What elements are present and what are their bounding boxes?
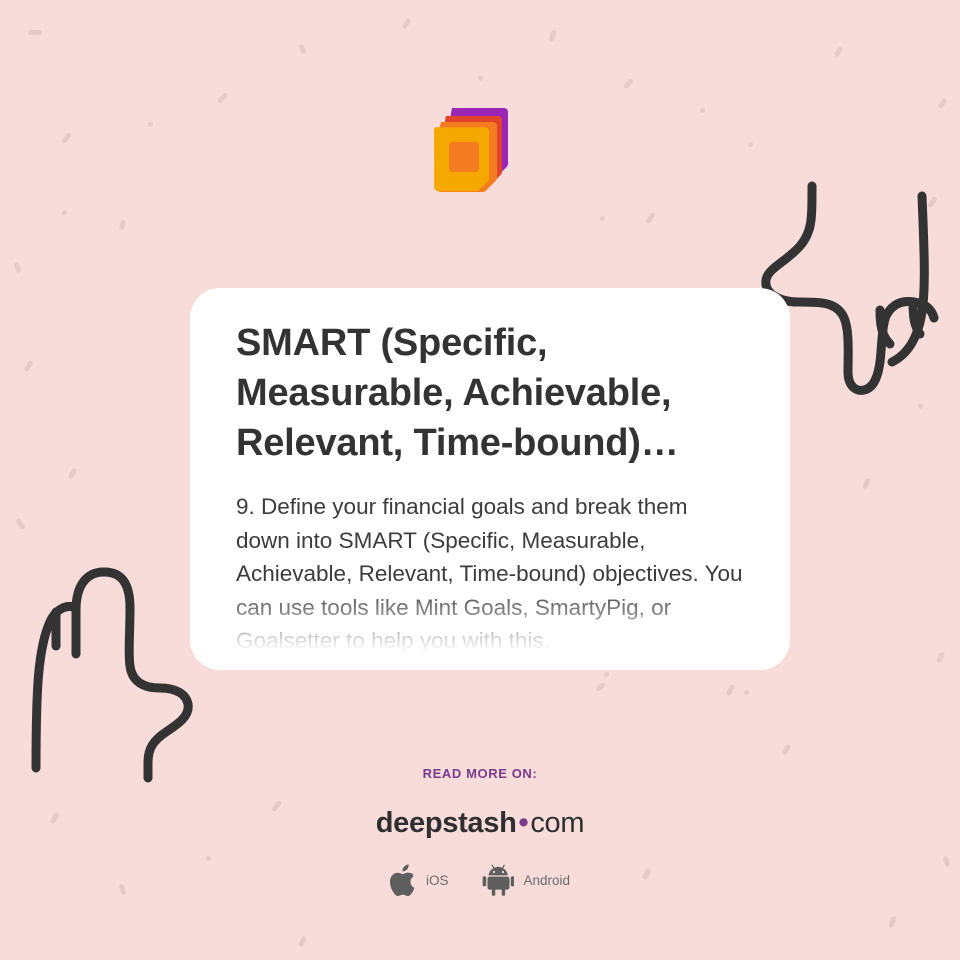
confetti-speck: [834, 45, 844, 57]
confetti-speck: [595, 682, 606, 693]
confetti-speck: [862, 477, 871, 489]
confetti-speck: [13, 261, 21, 273]
android-label: Android: [523, 873, 570, 888]
confetti-speck: [604, 672, 609, 677]
confetti-speck: [217, 92, 229, 104]
confetti-speck: [68, 467, 78, 479]
confetti-speck: [888, 916, 897, 929]
pointing-hand-right-illustration: [762, 176, 960, 396]
confetti-speck: [936, 651, 946, 663]
confetti-speck: [725, 684, 735, 697]
poster-canvas: SMART (Specific, Measurable, Achievable,…: [0, 0, 960, 960]
footer: READ MORE ON: deepstash•com iOS: [0, 766, 960, 896]
app-store-badges: iOS Android: [0, 864, 960, 896]
deepstash-logo: [430, 104, 516, 196]
pointing-hand-left-illustration: [26, 562, 216, 782]
confetti-speck: [744, 690, 749, 695]
confetti-speck: [62, 210, 67, 215]
confetti-speck: [937, 98, 948, 110]
card-body-text: 9. Define your financial goals and break…: [236, 490, 744, 658]
confetti-speck: [298, 935, 307, 947]
confetti-speck: [28, 30, 42, 35]
confetti-speck: [401, 18, 411, 30]
confetti-speck: [15, 518, 26, 531]
ios-label: iOS: [426, 873, 449, 888]
confetti-speck: [23, 360, 33, 373]
android-icon: [482, 864, 514, 896]
confetti-speck: [781, 744, 791, 756]
android-store-item[interactable]: Android: [482, 864, 570, 896]
confetti-speck: [700, 108, 705, 113]
confetti-speck: [61, 132, 72, 145]
card-title: SMART (Specific, Measurable, Achievable,…: [236, 318, 744, 468]
confetti-speck: [548, 30, 557, 43]
confetti-speck: [600, 216, 605, 221]
confetti-speck: [478, 76, 483, 81]
confetti-speck: [119, 220, 126, 231]
deepstash-wordmark[interactable]: deepstash•com: [0, 809, 960, 838]
apple-icon: [390, 864, 417, 896]
wordmark-tld: com: [530, 807, 584, 839]
confetti-speck: [623, 78, 634, 90]
confetti-speck: [298, 43, 307, 54]
card-inner: SMART (Specific, Measurable, Achievable,…: [190, 288, 790, 658]
ios-store-item[interactable]: iOS: [390, 864, 449, 896]
confetti-speck: [645, 212, 656, 225]
confetti-speck: [748, 142, 753, 147]
confetti-speck: [918, 404, 923, 409]
content-card[interactable]: SMART (Specific, Measurable, Achievable,…: [190, 288, 790, 670]
confetti-speck: [927, 196, 938, 209]
wordmark-dot: •: [517, 807, 531, 839]
read-more-label: READ MORE ON:: [0, 766, 960, 781]
wordmark-name: deepstash: [376, 807, 517, 839]
confetti-speck: [148, 122, 153, 127]
